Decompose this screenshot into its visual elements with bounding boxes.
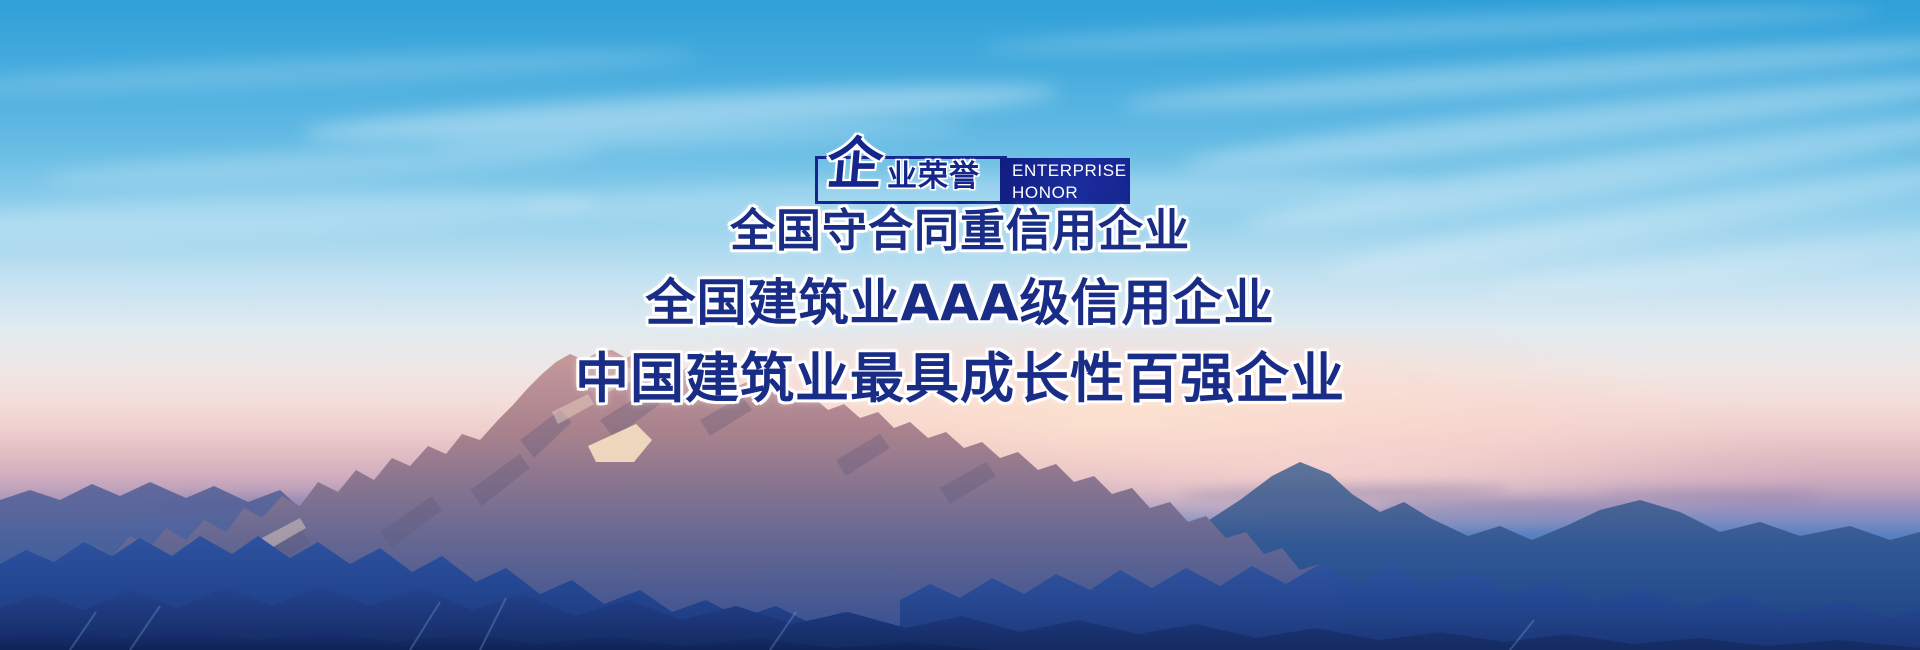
headline-line-3: 中国建筑业最具成长性百强企业 — [0, 340, 1920, 418]
headline-line-1: 全国守合同重信用企业 — [0, 196, 1920, 266]
enterprise-honor-banner: 企 业荣誉 ENTERPRISE HONOR 全国守合同重信用企业 全国建筑业A… — [0, 0, 1920, 650]
logo-qi-character: 企 — [825, 136, 886, 192]
headline-line-2: 全国建筑业AAA级信用企业 — [0, 266, 1920, 340]
logo-english-line1: ENTERPRISE — [1000, 158, 1130, 182]
logo-yerongyu-text: 业荣誉 — [887, 162, 980, 192]
headline-block: 全国守合同重信用企业 全国建筑业AAA级信用企业 中国建筑业最具成长性百强企业 — [0, 196, 1920, 418]
